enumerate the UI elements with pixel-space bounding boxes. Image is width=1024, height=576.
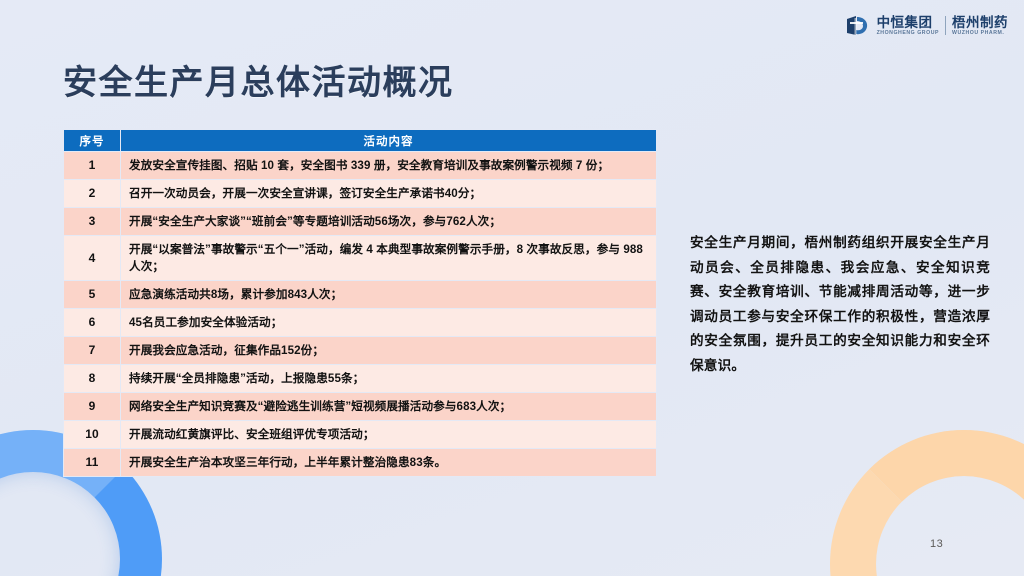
row-number-cell: 11 xyxy=(64,449,121,477)
row-number-cell: 1 xyxy=(64,152,121,180)
decorative-orange-ring-highlight xyxy=(830,430,1024,576)
table-row: 645名员工参加安全体验活动； xyxy=(64,309,657,337)
logo-wordmark: 中恒集团 ZHONGHENG GROUP 梧州制药 WUZHOU PHARM. xyxy=(877,15,1008,37)
row-number-cell: 10 xyxy=(64,421,121,449)
column-header-content: 活动内容 xyxy=(121,130,657,152)
activity-table-head: 序号 活动内容 xyxy=(64,130,657,152)
column-header-no: 序号 xyxy=(64,130,121,152)
table-row: 3开展“安全生产大家谈”“班前会”等专题培训活动56场次，参与762人次； xyxy=(64,208,657,236)
row-number-cell: 7 xyxy=(64,337,121,365)
row-content-cell: 发放安全宣传挂图、招贴 10 套，安全图书 339 册，安全教育培训及事故案例警… xyxy=(121,152,657,180)
row-content-cell: 应急演练活动共8场，累计参加843人次； xyxy=(121,281,657,309)
row-content-cell: 开展安全生产治本攻坚三年行动，上半年累计整治隐患83条。 xyxy=(121,449,657,477)
row-content-cell: 网络安全生产知识竞赛及“避险逃生训练营”短视频展播活动参与683人次； xyxy=(121,393,657,421)
row-content-cell: 开展我会应急活动，征集作品152份； xyxy=(121,337,657,365)
activity-table-body: 1发放安全宣传挂图、招贴 10 套，安全图书 339 册，安全教育培训及事故案例… xyxy=(64,152,657,477)
decorative-orange-ring xyxy=(830,430,1024,576)
logo-primary-cn: 中恒集团 xyxy=(877,15,939,30)
logo-secondary-cn: 梧州制药 xyxy=(952,15,1008,30)
row-content-cell: 开展流动红黄旗评比、安全班组评优专项活动； xyxy=(121,421,657,449)
table-row: 1发放安全宣传挂图、招贴 10 套，安全图书 339 册，安全教育培训及事故案例… xyxy=(64,152,657,180)
activity-table-container: 序号 活动内容 1发放安全宣传挂图、招贴 10 套，安全图书 339 册，安全教… xyxy=(63,129,657,477)
logo-group-name: 中恒集团 ZHONGHENG GROUP xyxy=(877,15,939,37)
logo-divider xyxy=(945,16,946,35)
zhongheng-logo-mark-icon xyxy=(844,13,870,39)
slide-canvas: 中恒集团 ZHONGHENG GROUP 梧州制药 WUZHOU PHARM. … xyxy=(0,0,1024,576)
table-row: 5应急演练活动共8场，累计参加843人次； xyxy=(64,281,657,309)
row-number-cell: 5 xyxy=(64,281,121,309)
row-number-cell: 3 xyxy=(64,208,121,236)
row-content-cell: 45名员工参加安全体验活动； xyxy=(121,309,657,337)
summary-paragraph: 安全生产月期间，梧州制药组织开展安全生产月动员会、全员排隐患、我会应急、安全知识… xyxy=(690,231,990,378)
row-number-cell: 8 xyxy=(64,365,121,393)
table-row: 11开展安全生产治本攻坚三年行动，上半年累计整治隐患83条。 xyxy=(64,449,657,477)
table-row: 10开展流动红黄旗评比、安全班组评优专项活动； xyxy=(64,421,657,449)
slide-title: 安全生产月总体活动概况 xyxy=(63,62,454,104)
row-content-cell: 开展“以案普法”事故警示“五个一”活动，编发 4 本典型事故案例警示手册，8 次… xyxy=(121,236,657,281)
page-number: 13 xyxy=(930,538,943,550)
logo-secondary-en: WUZHOU PHARM. xyxy=(952,30,1008,37)
row-number-cell: 2 xyxy=(64,180,121,208)
activity-table: 序号 活动内容 1发放安全宣传挂图、招贴 10 套，安全图书 339 册，安全教… xyxy=(63,129,657,477)
company-logo: 中恒集团 ZHONGHENG GROUP 梧州制药 WUZHOU PHARM. xyxy=(844,10,1008,42)
row-number-cell: 6 xyxy=(64,309,121,337)
logo-primary-en: ZHONGHENG GROUP xyxy=(877,30,939,37)
row-content-cell: 开展“安全生产大家谈”“班前会”等专题培训活动56场次，参与762人次； xyxy=(121,208,657,236)
table-row: 8持续开展“全员排隐患”活动，上报隐患55条； xyxy=(64,365,657,393)
table-header-row: 序号 活动内容 xyxy=(64,130,657,152)
table-row: 7开展我会应急活动，征集作品152份； xyxy=(64,337,657,365)
table-row: 9网络安全生产知识竞赛及“避险逃生训练营”短视频展播活动参与683人次； xyxy=(64,393,657,421)
row-content-cell: 持续开展“全员排隐患”活动，上报隐患55条； xyxy=(121,365,657,393)
logo-brand-name: 梧州制药 WUZHOU PHARM. xyxy=(952,15,1008,37)
row-number-cell: 9 xyxy=(64,393,121,421)
row-content-cell: 召开一次动员会，开展一次安全宣讲课，签订安全生产承诺书40分； xyxy=(121,180,657,208)
table-row: 2召开一次动员会，开展一次安全宣讲课，签订安全生产承诺书40分； xyxy=(64,180,657,208)
table-row: 4开展“以案普法”事故警示“五个一”活动，编发 4 本典型事故案例警示手册，8 … xyxy=(64,236,657,281)
row-number-cell: 4 xyxy=(64,236,121,281)
